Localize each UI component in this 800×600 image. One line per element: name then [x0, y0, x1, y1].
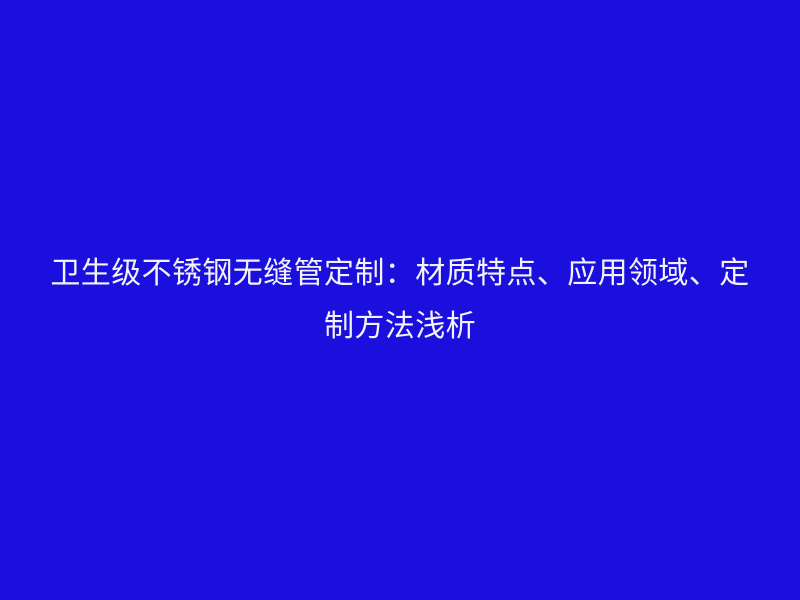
title-card: 卫生级不锈钢无缝管定制：材质特点、应用领域、定制方法浅析 [0, 0, 800, 600]
title-block: 卫生级不锈钢无缝管定制：材质特点、应用领域、定制方法浅析 [50, 247, 750, 353]
page-title: 卫生级不锈钢无缝管定制：材质特点、应用领域、定制方法浅析 [50, 247, 750, 353]
